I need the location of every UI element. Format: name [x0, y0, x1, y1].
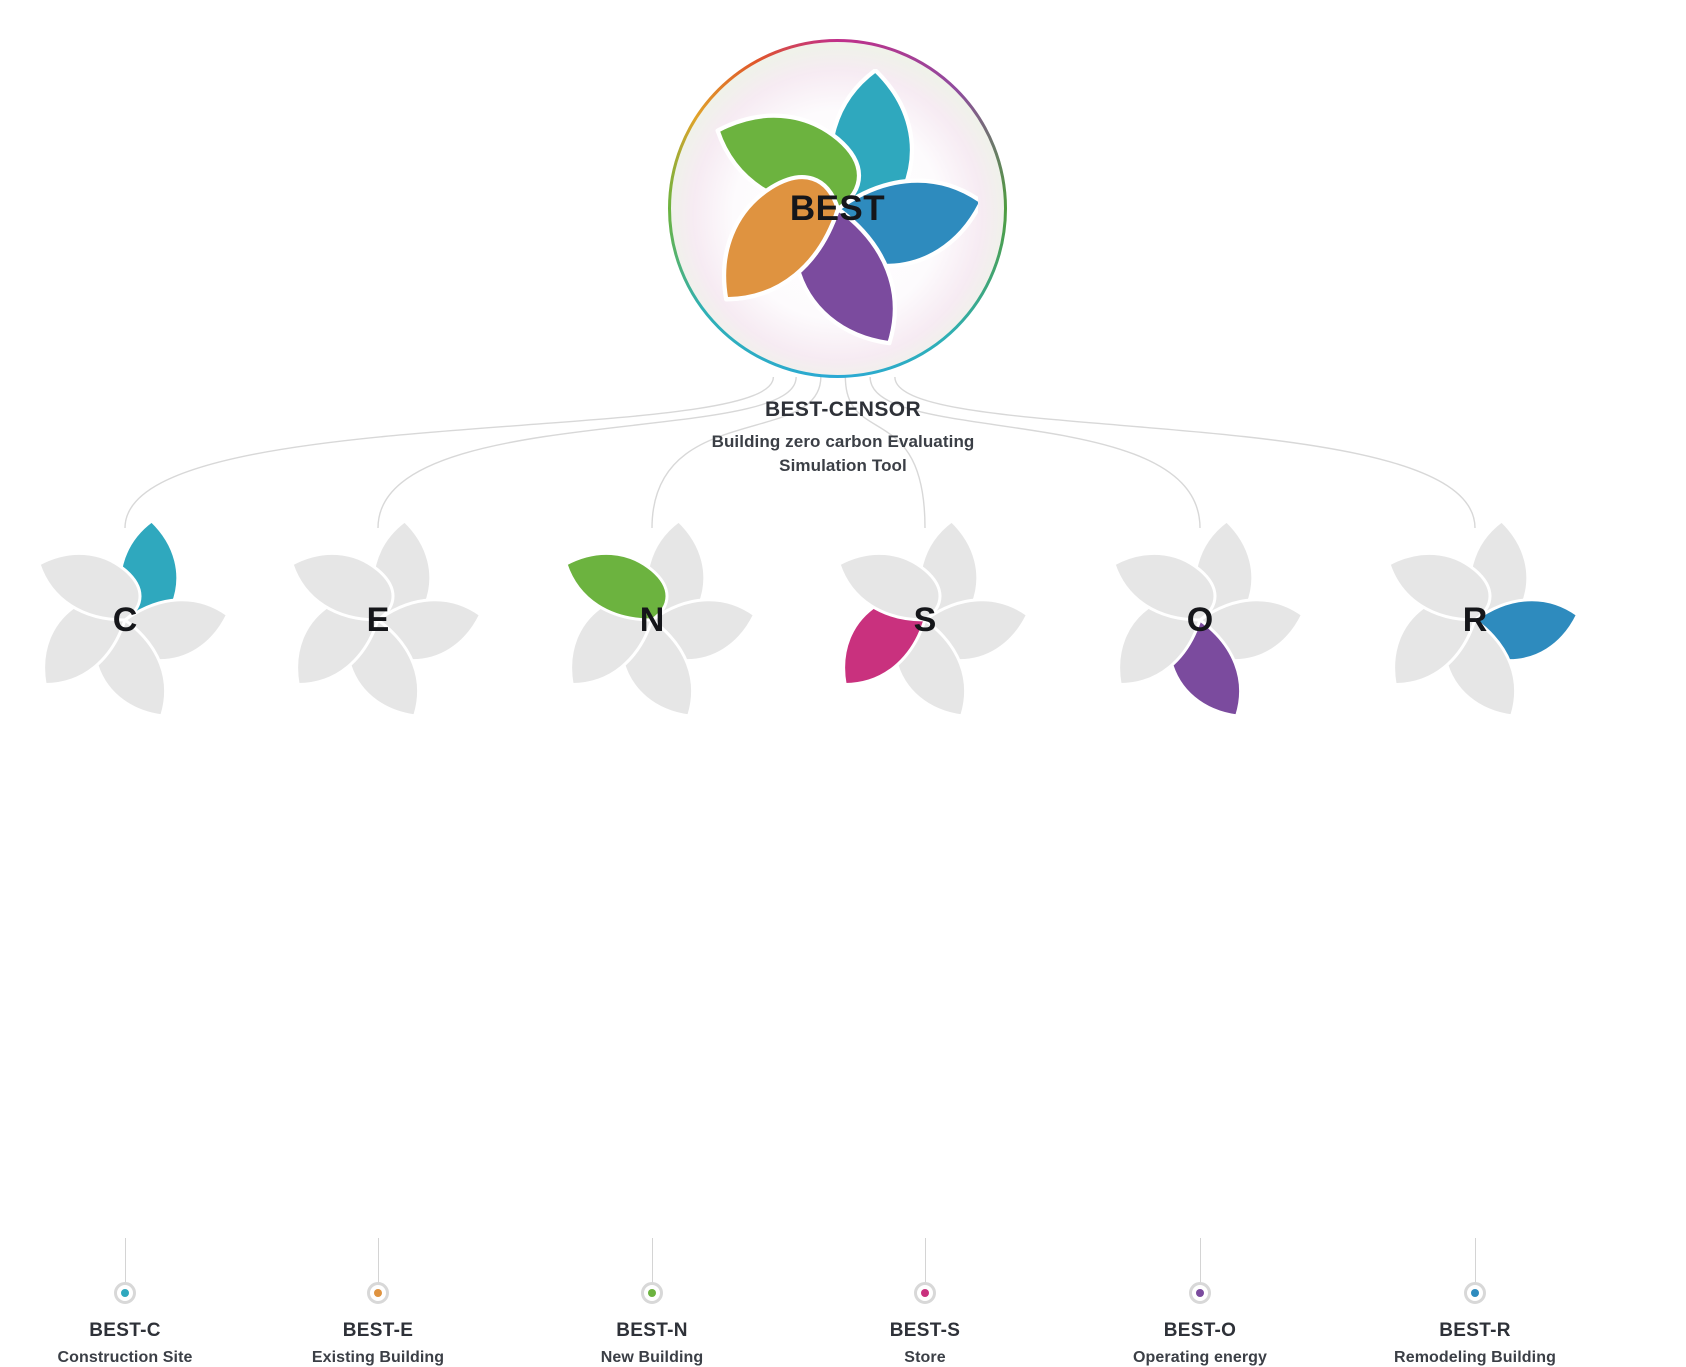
- child-title: BEST-C: [0, 1320, 250, 1342]
- child-dot-marker[interactable]: [1189, 1282, 1211, 1304]
- child-stem-line: [1475, 1238, 1476, 1286]
- child-dot-fill: [121, 1289, 129, 1297]
- child-subtitle: Store: [800, 1349, 1050, 1367]
- child-dot-marker[interactable]: [641, 1282, 663, 1304]
- child-dot-marker[interactable]: [1464, 1282, 1486, 1304]
- child-subtitle: Existing Building: [253, 1349, 503, 1367]
- child-pinwheel-c: C: [15, 520, 235, 720]
- child-labels: BEST-EExisting Building: [253, 1320, 503, 1367]
- hub-caption-line1: Building zero carbon Evaluating: [712, 432, 975, 451]
- child-letter: N: [542, 598, 762, 642]
- child-pinwheel-o: O: [1090, 520, 1310, 720]
- child-dot-fill: [921, 1289, 929, 1297]
- hub-caption-subtitle: Building zero carbon Evaluating Simulati…: [593, 430, 1093, 478]
- child-dot-marker[interactable]: [114, 1282, 136, 1304]
- child-letter: S: [815, 598, 1035, 642]
- hub-node[interactable]: BEST: [651, 22, 1024, 395]
- child-node-e[interactable]: EBEST-EExisting Building: [253, 520, 503, 720]
- child-node-c[interactable]: CBEST-CConstruction Site: [0, 520, 250, 720]
- child-stem-line: [925, 1238, 926, 1286]
- child-title: BEST-E: [253, 1320, 503, 1342]
- child-dot-fill: [648, 1289, 656, 1297]
- child-stem-line: [1200, 1238, 1201, 1286]
- child-node-n[interactable]: NBEST-NNew Building: [527, 520, 777, 720]
- child-subtitle: Construction Site: [0, 1349, 250, 1367]
- child-node-s[interactable]: SBEST-SStore: [800, 520, 1050, 720]
- child-dot-marker[interactable]: [914, 1282, 936, 1304]
- child-pinwheel-s: S: [815, 520, 1035, 720]
- child-title: BEST-N: [527, 1320, 777, 1342]
- child-dot-fill: [1196, 1289, 1204, 1297]
- child-dot-fill: [374, 1289, 382, 1297]
- child-labels: BEST-RRemodeling Building: [1350, 1320, 1600, 1367]
- child-labels: BEST-NNew Building: [527, 1320, 777, 1367]
- child-letter: O: [1090, 598, 1310, 642]
- child-node-o[interactable]: OBEST-OOperating energy: [1075, 520, 1325, 720]
- child-pinwheel-e: E: [268, 520, 488, 720]
- child-letter: E: [268, 598, 488, 642]
- child-labels: BEST-OOperating energy: [1075, 1320, 1325, 1367]
- child-title: BEST-O: [1075, 1320, 1325, 1342]
- child-dot-fill: [1471, 1289, 1479, 1297]
- child-stem-line: [125, 1238, 126, 1286]
- child-dot-marker[interactable]: [367, 1282, 389, 1304]
- child-pinwheel-r: R: [1365, 520, 1585, 720]
- hub-caption: BEST-CENSOR Building zero carbon Evaluat…: [593, 398, 1093, 478]
- child-stem-line: [652, 1238, 653, 1286]
- hub-wordmark: BEST: [651, 188, 1024, 230]
- child-stem-line: [378, 1238, 379, 1286]
- diagram-canvas: BEST BEST-CENSOR Building zero carbon Ev…: [0, 0, 1686, 956]
- child-pinwheel-n: N: [542, 520, 762, 720]
- child-title: BEST-S: [800, 1320, 1050, 1342]
- child-letter: C: [15, 598, 235, 642]
- child-subtitle: Operating energy: [1075, 1349, 1325, 1367]
- child-subtitle: New Building: [527, 1349, 777, 1367]
- child-letter: R: [1365, 598, 1585, 642]
- child-node-r[interactable]: RBEST-RRemodeling Building: [1350, 520, 1600, 720]
- child-title: BEST-R: [1350, 1320, 1600, 1342]
- child-labels: BEST-CConstruction Site: [0, 1320, 250, 1367]
- hub-caption-line2: Simulation Tool: [779, 456, 907, 475]
- child-subtitle: Remodeling Building: [1350, 1349, 1600, 1367]
- child-labels: BEST-SStore: [800, 1320, 1050, 1367]
- hub-caption-title: BEST-CENSOR: [593, 398, 1093, 422]
